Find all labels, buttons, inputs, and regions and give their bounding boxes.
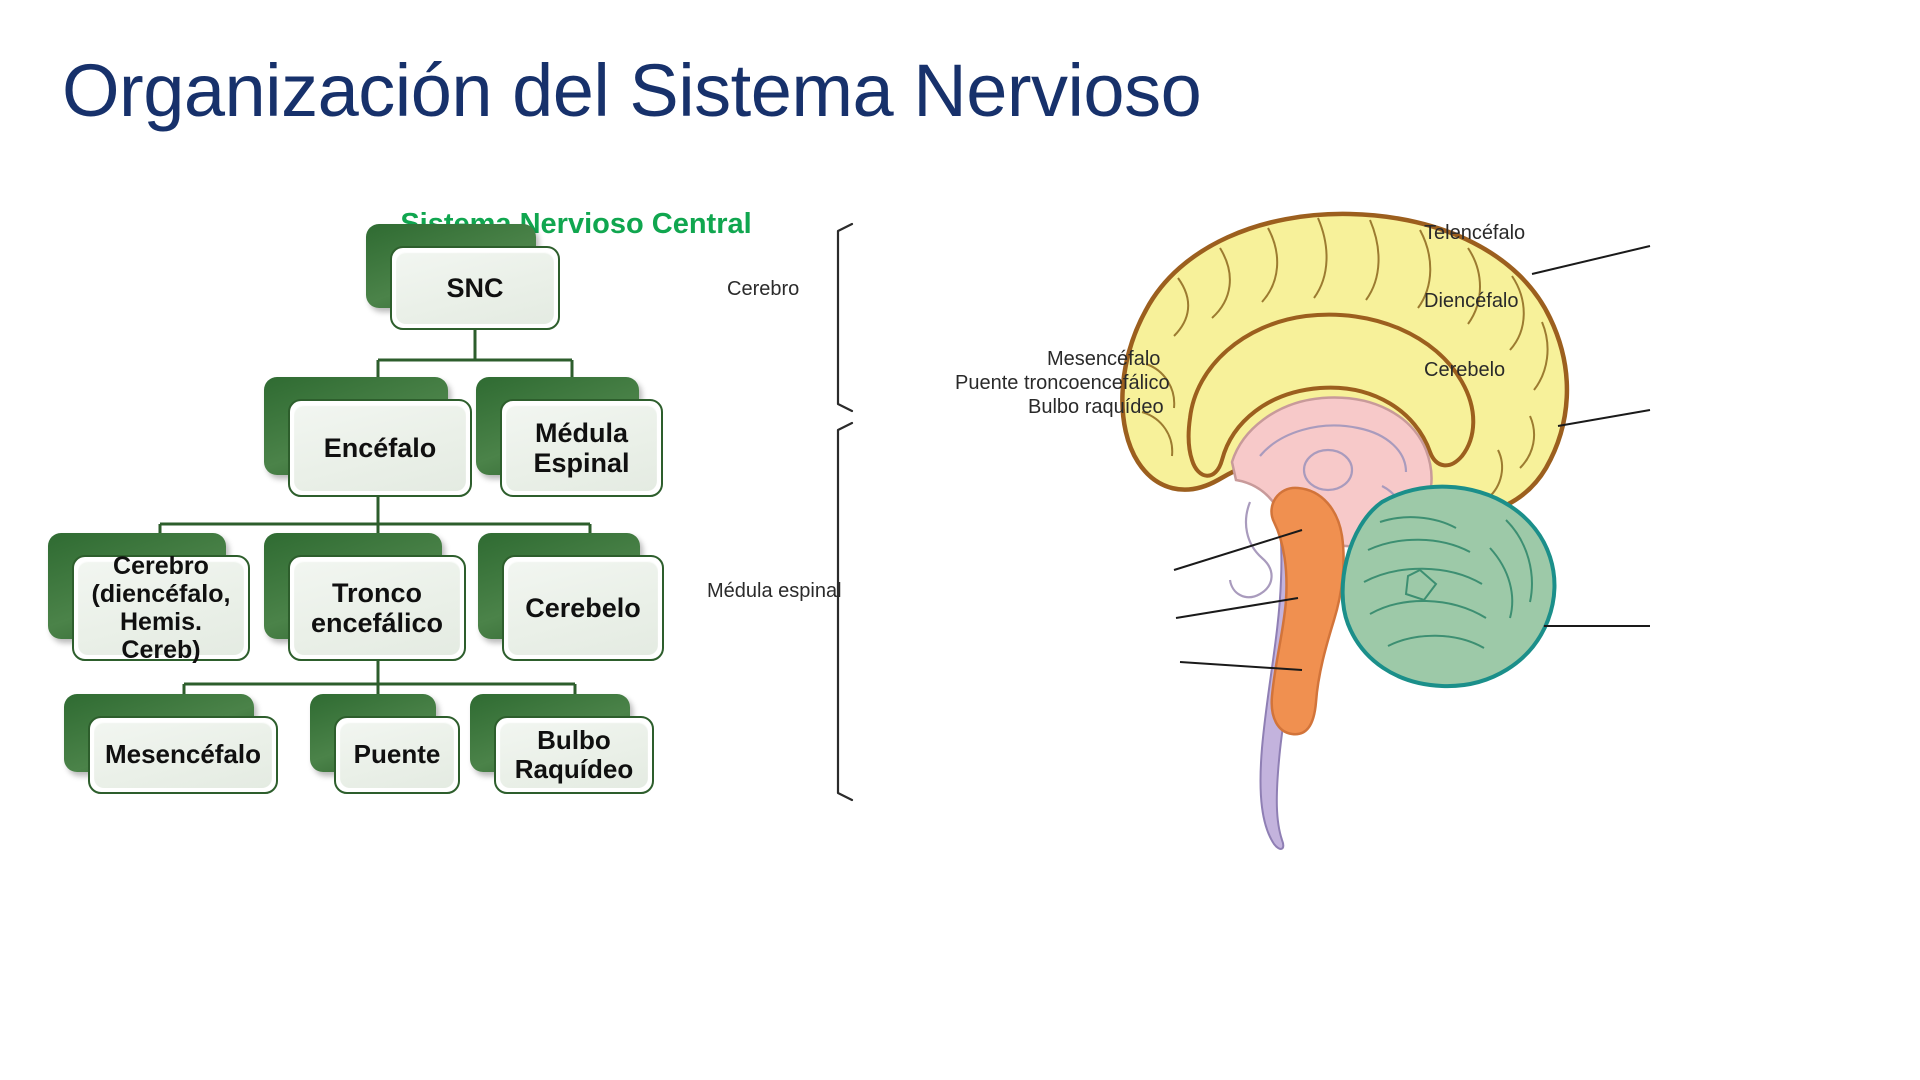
node-card: Médula Espinal bbox=[500, 399, 663, 497]
node-card: SNC bbox=[390, 246, 560, 330]
brain-svg bbox=[950, 150, 1910, 870]
node-label: Encéfalo bbox=[316, 433, 445, 463]
brain-label-puente-troncoencefalico: Puente troncoencefálico bbox=[955, 372, 1170, 395]
node-card: Cerebelo bbox=[502, 555, 664, 661]
node-card: Bulbo Raquídeo bbox=[494, 716, 654, 794]
node-medula-espinal[interactable]: Médula Espinal bbox=[476, 377, 639, 475]
node-card: Encéfalo bbox=[288, 399, 472, 497]
brain-illustration: celulablalo.com bbox=[950, 150, 1910, 870]
brain-label-diencefalo: Diencéfalo bbox=[1424, 290, 1519, 313]
node-cerebro[interactable]: Cerebro (diencéfalo, Hemis. Cereb) bbox=[48, 533, 226, 639]
node-card: Tronco encefálico bbox=[288, 555, 466, 661]
node-snc[interactable]: SNC bbox=[366, 224, 536, 308]
node-card: Mesencéfalo bbox=[88, 716, 278, 794]
node-label: Cerebelo bbox=[517, 593, 649, 623]
cerebellum-shape bbox=[1343, 487, 1555, 686]
tree-connectors bbox=[0, 0, 860, 1000]
node-label: Mesencéfalo bbox=[97, 740, 269, 769]
brain-label-cerebelo: Cerebelo bbox=[1424, 359, 1505, 382]
node-puente[interactable]: Puente bbox=[310, 694, 436, 772]
brain-label-bulbo-raquideo: Bulbo raquídeo bbox=[1028, 396, 1164, 419]
node-encefalo[interactable]: Encéfalo bbox=[264, 377, 448, 475]
node-label: Puente bbox=[346, 740, 449, 769]
node-label: SNC bbox=[438, 273, 511, 303]
node-label: Tronco encefálico bbox=[303, 578, 451, 638]
bracket-label-medula-espinal: Médula espinal bbox=[707, 580, 842, 603]
brain-label-telencefalo: Telencéfalo bbox=[1424, 222, 1525, 245]
node-tronco-encefalico[interactable]: Tronco encefálico bbox=[264, 533, 442, 639]
node-mesencefalo[interactable]: Mesencéfalo bbox=[64, 694, 254, 772]
node-bulbo-raquideo[interactable]: Bulbo Raquídeo bbox=[470, 694, 630, 772]
bracket-label-cerebro: Cerebro bbox=[727, 278, 799, 301]
node-label: Cerebro (diencéfalo, Hemis. Cereb) bbox=[84, 552, 239, 664]
node-card: Puente bbox=[334, 716, 460, 794]
node-label: Médula Espinal bbox=[525, 418, 637, 478]
brain-label-mesencefalo: Mesencéfalo bbox=[1047, 348, 1160, 371]
node-cerebelo[interactable]: Cerebelo bbox=[478, 533, 640, 639]
node-card: Cerebro (diencéfalo, Hemis. Cereb) bbox=[72, 555, 250, 661]
node-label: Bulbo Raquídeo bbox=[507, 726, 641, 784]
org-tree: Sistema Nervioso Central SNC bbox=[0, 0, 860, 1000]
